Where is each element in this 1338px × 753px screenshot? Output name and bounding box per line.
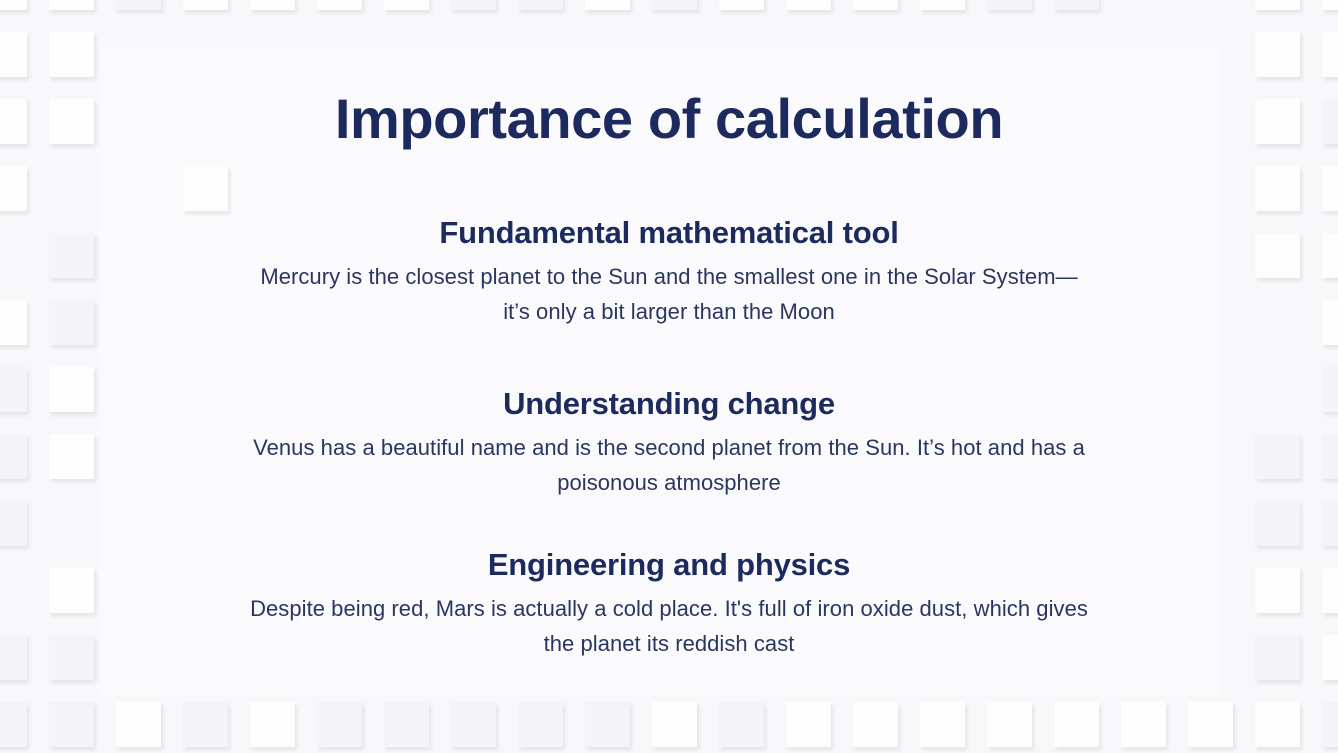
section-block: Fundamental mathematical tool Mercury is… — [0, 214, 1338, 330]
section-body: Venus has a beautiful name and is the se… — [249, 430, 1089, 501]
section-body: Mercury is the closest planet to the Sun… — [249, 259, 1089, 330]
slide-content: Importance of calculation Fundamental ma… — [0, 0, 1338, 753]
section-heading: Understanding change — [0, 385, 1338, 424]
section-block: Engineering and physics Despite being re… — [0, 546, 1338, 662]
section-heading: Engineering and physics — [0, 546, 1338, 585]
section-heading: Fundamental mathematical tool — [0, 214, 1338, 253]
page-title: Importance of calculation — [0, 88, 1338, 150]
slide-canvas: Importance of calculation Fundamental ma… — [0, 0, 1338, 753]
section-block: Understanding change Venus has a beautif… — [0, 385, 1338, 501]
section-body: Despite being red, Mars is actually a co… — [249, 591, 1089, 662]
